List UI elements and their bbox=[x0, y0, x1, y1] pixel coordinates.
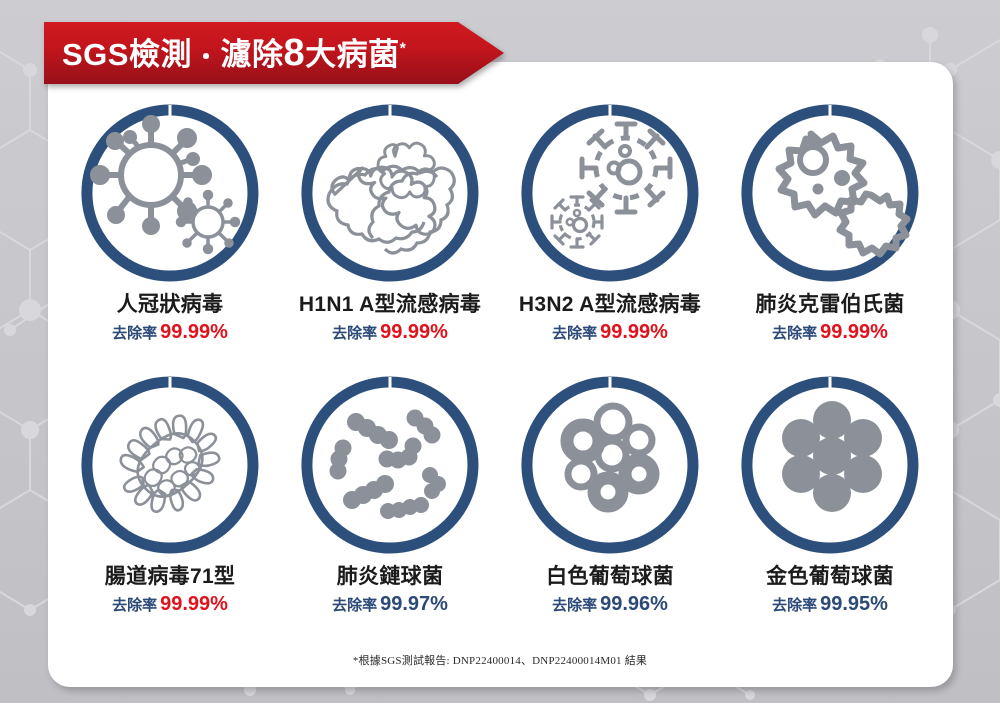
rate-label: 去除率 bbox=[552, 597, 597, 614]
rate-value: 99.99% bbox=[380, 321, 448, 343]
influenza-virus-icon bbox=[519, 102, 701, 284]
removal-rate: 去除率99.95% bbox=[772, 593, 888, 616]
pathogen-name: 金色葡萄球菌 bbox=[766, 565, 894, 589]
removal-rate: 去除率99.99% bbox=[552, 321, 668, 344]
removal-rate: 去除率99.99% bbox=[112, 593, 228, 616]
pathogen-row-2: 腸道病毒71型 去除率99.99% bbox=[60, 374, 940, 616]
pathogen-name: H3N2 A型流感病毒 bbox=[519, 293, 701, 317]
removal-rate: 去除率99.96% bbox=[552, 593, 668, 616]
banner-prefix: SGS檢測 bbox=[62, 37, 192, 72]
banner-suffix: 大病菌 bbox=[305, 37, 400, 72]
pathogen-cell-h1n1: H1N1 A型流感病毒 去除率99.99% bbox=[280, 102, 500, 344]
rate-label: 去除率 bbox=[332, 597, 377, 614]
rate-label: 去除率 bbox=[772, 325, 817, 342]
pathogen-row-1: 人冠狀病毒 去除率99.99% bbox=[60, 102, 940, 344]
pathogen-cell-enterovirus71: 腸道病毒71型 去除率99.99% bbox=[60, 374, 280, 616]
rate-value: 99.99% bbox=[820, 321, 888, 343]
footnote: *根據SGS測試報告: DNP22400014、DNP22400014M01 結… bbox=[0, 652, 1000, 668]
banner-shape: SGS檢測・濾除8大病菌* bbox=[44, 22, 504, 84]
rate-label: 去除率 bbox=[332, 325, 377, 342]
pathogen-name: 肺炎克雷伯氏菌 bbox=[755, 293, 904, 317]
pathogen-cell-klebsiella: 肺炎克雷伯氏菌 去除率99.99% bbox=[720, 102, 940, 344]
rate-label: 去除率 bbox=[112, 597, 157, 614]
rate-label: 去除率 bbox=[552, 325, 597, 342]
rate-value: 99.99% bbox=[160, 321, 228, 343]
pathogen-name: 肺炎鏈球菌 bbox=[337, 565, 444, 589]
removal-rate: 去除率99.99% bbox=[112, 321, 228, 344]
staph-epidermidis-rings-icon bbox=[519, 374, 701, 556]
pathogen-cell-staph-epidermidis: 白色葡萄球菌 去除率99.96% bbox=[500, 374, 720, 616]
pathogen-name: 人冠狀病毒 bbox=[117, 293, 224, 317]
staph-aureus-dots-icon bbox=[739, 374, 921, 556]
banner-separator: ・ bbox=[192, 44, 221, 71]
removal-rate: 去除率99.99% bbox=[772, 321, 888, 344]
pathogen-cell-streptococcus: 肺炎鏈球菌 去除率99.97% bbox=[280, 374, 500, 616]
pathogen-cell-coronavirus: 人冠狀病毒 去除率99.99% bbox=[60, 102, 280, 344]
rate-value: 99.97% bbox=[380, 593, 448, 615]
rate-value: 99.99% bbox=[600, 321, 668, 343]
pathogen-name: H1N1 A型流感病毒 bbox=[299, 293, 481, 317]
rate-label: 去除率 bbox=[112, 325, 157, 342]
enterovirus-spiky-icon bbox=[79, 374, 261, 556]
pathogen-cell-h3n2: H3N2 A型流感病毒 去除率99.99% bbox=[500, 102, 720, 344]
pathogen-name: 腸道病毒71型 bbox=[105, 565, 235, 589]
sgs-banner: SGS檢測・濾除8大病菌* bbox=[44, 22, 504, 84]
banner-asterisk: * bbox=[400, 41, 407, 58]
rate-value: 99.96% bbox=[600, 593, 668, 615]
pathogen-name: 白色葡萄球菌 bbox=[546, 565, 674, 589]
banner-number: 8 bbox=[283, 32, 305, 74]
rate-label: 去除率 bbox=[772, 597, 817, 614]
banner-title: SGS檢測・濾除8大病菌* bbox=[62, 34, 406, 72]
banner-mid: 濾除 bbox=[220, 37, 283, 72]
bacteria-chain-outline-icon bbox=[299, 102, 481, 284]
pathogen-grid: 人冠狀病毒 去除率99.99% bbox=[60, 102, 940, 616]
removal-rate: 去除率99.97% bbox=[332, 593, 448, 616]
pathogen-cell-staph-aureus: 金色葡萄球菌 去除率99.95% bbox=[720, 374, 940, 616]
rate-value: 99.99% bbox=[160, 593, 228, 615]
rate-value: 99.95% bbox=[820, 593, 888, 615]
removal-rate: 去除率99.99% bbox=[332, 321, 448, 344]
streptococcus-chain-icon bbox=[299, 374, 481, 556]
klebsiella-blob-icon bbox=[739, 102, 921, 284]
coronavirus-icon bbox=[79, 102, 261, 284]
